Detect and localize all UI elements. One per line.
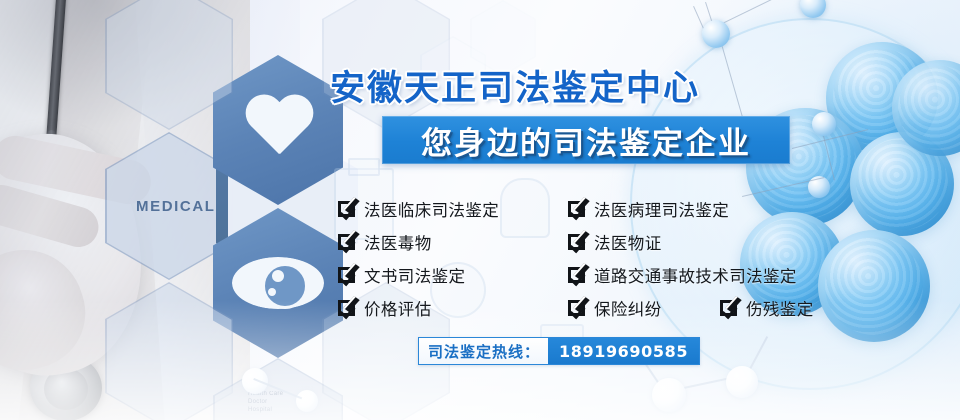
list-item[interactable]: 法医毒物 — [338, 225, 499, 258]
subtitle-bar: 您身边的司法鉴定企业 — [382, 116, 790, 164]
watermark-clip — [348, 158, 380, 176]
list-item-label: 道路交通事故技术司法鉴定 — [594, 263, 797, 287]
list-item-disability[interactable]: 伤残鉴定 — [720, 291, 814, 324]
list-item-label: 保险纠纷 — [594, 296, 662, 320]
check-icon — [338, 267, 355, 283]
promo-banner: MEDICAL Health Care Doctor Hospital — [0, 0, 960, 420]
list-item[interactable]: 法医临床司法鉴定 — [338, 192, 499, 225]
check-icon — [338, 234, 355, 250]
eye-pupil — [272, 270, 284, 282]
list-item-label: 法医物证 — [594, 230, 662, 254]
subtitle-text: 您身边的司法鉴定企业 — [421, 118, 751, 163]
list-item-label: 法医病理司法鉴定 — [594, 197, 729, 221]
service-column-left: 法医临床司法鉴定 法医毒物 文书司法鉴定 价格评估 — [338, 192, 499, 324]
eye-highlight — [268, 288, 276, 296]
list-item-label: 伤残鉴定 — [746, 296, 814, 320]
molecule-node — [702, 20, 730, 48]
hotline-number[interactable]: 18919690585 — [548, 338, 699, 364]
check-icon — [568, 201, 585, 217]
list-item-label: 价格评估 — [364, 296, 432, 320]
check-icon — [720, 300, 737, 316]
list-item[interactable]: 道路交通事故技术司法鉴定 — [568, 258, 797, 291]
hotline-bar[interactable]: 司法鉴定热线： 18919690585 — [418, 337, 700, 365]
check-icon — [568, 267, 585, 283]
list-item[interactable]: 法医病理司法鉴定 — [568, 192, 797, 225]
hotline-label: 司法鉴定热线： — [419, 338, 548, 364]
list-item[interactable]: 文书司法鉴定 — [338, 258, 499, 291]
check-icon — [338, 300, 355, 316]
page-title: 安徽天正司法鉴定中心 — [330, 60, 700, 111]
service-list: 法医临床司法鉴定 法医毒物 文书司法鉴定 价格评估 法医病理司法鉴定 — [338, 192, 858, 322]
check-icon — [568, 300, 585, 316]
list-item-label: 文书司法鉴定 — [364, 263, 465, 287]
hexagon-medical-label: MEDICAL — [136, 198, 216, 215]
list-item[interactable]: 法医物证 — [568, 225, 797, 258]
list-item-label: 法医毒物 — [364, 230, 432, 254]
list-item[interactable]: 价格评估 — [338, 291, 499, 324]
check-icon — [338, 201, 355, 217]
molecule-node — [812, 112, 836, 136]
heart-icon — [243, 96, 315, 162]
check-icon — [568, 234, 585, 250]
list-item-label: 法医临床司法鉴定 — [364, 197, 499, 221]
